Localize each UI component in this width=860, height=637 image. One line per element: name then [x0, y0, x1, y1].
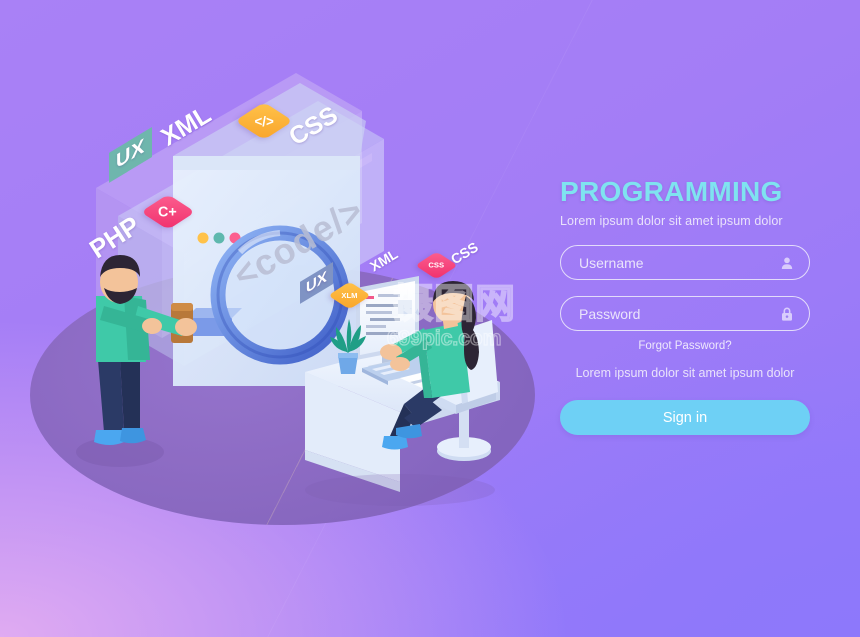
- page-title: PROGRAMMING: [560, 176, 810, 208]
- illustration-canvas: PHP UX XML CSS UX XML CSS </> C+ XLM CSS…: [0, 0, 860, 637]
- badge-xlm-text: XLM: [341, 291, 357, 300]
- password-field[interactable]: [560, 296, 810, 331]
- lock-icon: [779, 306, 795, 322]
- username-field[interactable]: [560, 245, 810, 280]
- subtitle-text: Lorem ipsum dolor sit amet ipsum dolor: [560, 213, 810, 229]
- user-icon: [779, 255, 795, 271]
- password-input[interactable]: [579, 306, 771, 322]
- badge-code-tag-text: </>: [254, 113, 273, 128]
- sign-in-button[interactable]: Sign in: [560, 400, 810, 435]
- badge-css-text: CSS: [429, 261, 445, 270]
- badge-cplus-text: C+: [159, 204, 178, 220]
- login-form: PROGRAMMING Lorem ipsum dolor sit amet i…: [560, 176, 810, 435]
- username-input[interactable]: [579, 255, 771, 271]
- forgot-password-link[interactable]: Forgot Password?: [560, 340, 810, 352]
- form-note-text: Lorem ipsum dolor sit amet ipsum dolor: [560, 365, 810, 381]
